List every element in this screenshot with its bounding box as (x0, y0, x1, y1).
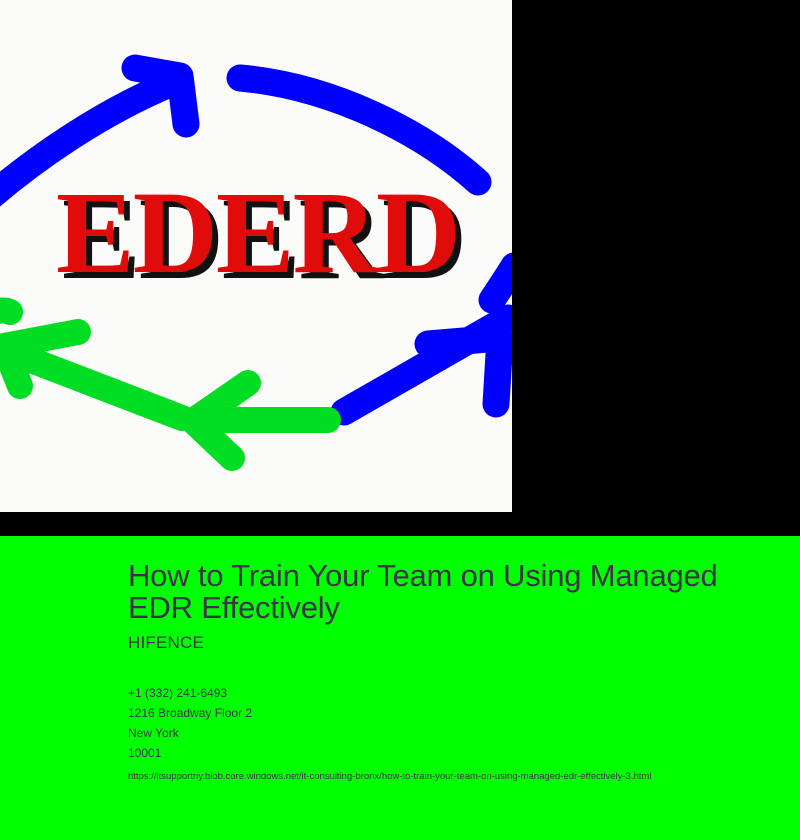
brand-label: HIFENCE (128, 633, 778, 653)
contact-street: 1216 Broadway Floor 2 (128, 703, 778, 723)
hero-illustration: EDERD EDERD (0, 0, 512, 512)
ederd-wordmark: EDERD EDERD (56, 167, 465, 304)
source-url-link[interactable]: https://itsupportny.blob.core.windows.ne… (128, 770, 778, 783)
page-root: EDERD EDERD (0, 0, 800, 840)
info-panel: How to Train Your Team on Using Managed … (0, 536, 800, 840)
hero-area: EDERD EDERD (0, 0, 800, 536)
page-title: How to Train Your Team on Using Managed … (128, 560, 778, 624)
contact-phone: +1 (332) 241-6493 (128, 683, 778, 703)
info-content: How to Train Your Team on Using Managed … (128, 560, 778, 783)
contact-block: +1 (332) 241-6493 1216 Broadway Floor 2 … (128, 683, 778, 763)
contact-zip: 10001 (128, 743, 778, 763)
svg-text:EDERD: EDERD (56, 167, 459, 298)
cycle-diagram-graphic: EDERD EDERD (0, 0, 512, 512)
contact-city: New York (128, 723, 778, 743)
